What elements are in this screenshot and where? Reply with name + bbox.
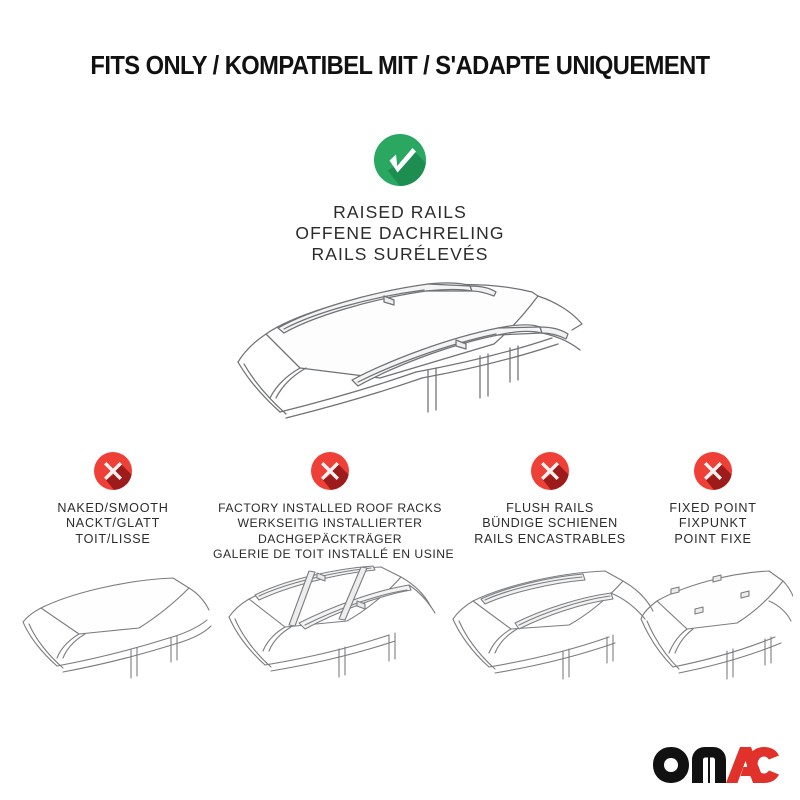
label-fr: POINT FIXE <box>633 532 793 547</box>
icon-wrap <box>443 452 657 496</box>
label-en: FIXED POINT <box>633 501 793 516</box>
compatible-label-en: RAISED RAILS <box>0 202 800 223</box>
icon-wrap <box>633 452 793 496</box>
label-fr: RAILS ENCASTRABLES <box>443 532 657 547</box>
check-circle-icon <box>374 134 426 186</box>
car-roof-raised-rails-illustration <box>180 272 630 452</box>
car-roof-with-crossbars-illustration <box>213 555 447 695</box>
incompatible-labels: FIXED POINT FIXPUNKT POINT FIXE <box>633 501 793 547</box>
page-title: FITS ONLY / KOMPATIBEL MIT / S'ADAPTE UN… <box>28 52 772 81</box>
label-de-2: DACHGEPÄCKTRÄGER <box>213 532 447 547</box>
incompatible-item-flush-rails: FLUSH RAILS BÜNDIGE SCHIENEN RAILS ENCAS… <box>443 452 657 547</box>
label-en: FACTORY INSTALLED ROOF RACKS <box>213 501 447 516</box>
incompatible-labels: NAKED/SMOOTH NACKT/GLATT TOIT/LISSE <box>13 501 213 547</box>
label-fr: TOIT/LISSE <box>13 532 213 547</box>
compatible-section: RAISED RAILS OFFENE DACHRELING RAILS SUR… <box>0 134 800 265</box>
incompatible-item-factory-roof-racks: FACTORY INSTALLED ROOF RACKS WERKSEITIG … <box>213 452 447 563</box>
car-roof-fixed-point-illustration <box>633 557 793 687</box>
x-circle-icon <box>531 452 569 490</box>
car-roof-naked-illustration <box>13 562 213 692</box>
x-circle-icon <box>311 452 349 490</box>
omac-logo <box>652 746 780 784</box>
compatible-label-de: OFFENE DACHRELING <box>0 223 800 244</box>
incompatible-labels: FLUSH RAILS BÜNDIGE SCHIENEN RAILS ENCAS… <box>443 501 657 547</box>
incompatible-item-naked-smooth: NAKED/SMOOTH NACKT/GLATT TOIT/LISSE <box>13 452 213 547</box>
x-circle-icon <box>94 452 132 490</box>
compatible-labels: RAISED RAILS OFFENE DACHRELING RAILS SUR… <box>0 202 800 265</box>
label-en: FLUSH RAILS <box>443 501 657 516</box>
label-en: NAKED/SMOOTH <box>13 501 213 516</box>
label-de: NACKT/GLATT <box>13 516 213 531</box>
icon-wrap <box>213 452 447 496</box>
label-de-1: WERKSEITIG INSTALLIERTER <box>213 516 447 531</box>
label-de: FIXPUNKT <box>633 516 793 531</box>
incompatible-section: NAKED/SMOOTH NACKT/GLATT TOIT/LISSE <box>0 452 800 712</box>
label-de: BÜNDIGE SCHIENEN <box>443 516 657 531</box>
incompatible-labels: FACTORY INSTALLED ROOF RACKS WERKSEITIG … <box>213 501 447 563</box>
car-roof-flush-rails-illustration <box>443 557 657 687</box>
incompatible-item-fixed-point: FIXED POINT FIXPUNKT POINT FIXE <box>633 452 793 547</box>
compatible-label-fr: RAILS SURÉLEVÉS <box>0 244 800 265</box>
icon-wrap <box>13 452 213 496</box>
fitment-infographic: FITS ONLY / KOMPATIBEL MIT / S'ADAPTE UN… <box>0 0 800 800</box>
x-circle-icon <box>694 452 732 490</box>
